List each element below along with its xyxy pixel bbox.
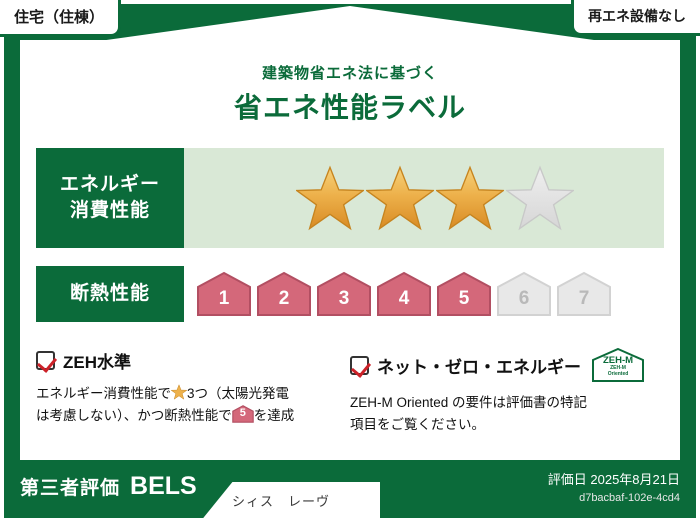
star-filled-icon-2 <box>366 165 434 231</box>
zeh-standard-title: ZEH水準 <box>63 348 131 373</box>
inline-chip-label: 5 <box>232 404 254 422</box>
energy-performance-label: エネルギー 消費性能 <box>36 148 184 248</box>
energy-label-line2: 消費性能 <box>70 198 150 224</box>
brand-overlay-text: シィス レーヴ <box>232 491 330 510</box>
insulation-chip-4: 4 <box>376 271 432 317</box>
insulation-label-text: 断熱性能 <box>70 281 150 307</box>
footer-left-group: 第三者評価 BELS <box>20 472 197 501</box>
zeh-body-text-3: は考慮しない）、かつ断熱性能で <box>36 408 232 423</box>
energy-label-line1: エネルギー <box>60 172 160 198</box>
zeh-body-text-1: エネルギー消費性能で <box>36 386 171 401</box>
insulation-chip-4-label: 4 <box>399 288 410 317</box>
net-zero-header: ネット・ゼロ・エネルギー ZEH-M ZEH-MOriented <box>350 348 648 382</box>
net-zero-energy-block: ネット・ゼロ・エネルギー ZEH-M ZEH-MOriented ZEH-M O… <box>350 348 664 448</box>
checkbox-checked-icon-zeh <box>36 351 55 370</box>
zeh-body-text-2: 3つ（太陽光発電 <box>187 386 289 401</box>
insulation-chip-2: 2 <box>256 271 312 317</box>
zeh-standard-header: ZEH水準 <box>36 348 334 373</box>
zeh-m-badge-line2: ZEH-MOriented <box>591 366 645 378</box>
page-title: 省エネ性能ラベル <box>0 86 700 126</box>
subtitle: 建築物省エネ法に基づく <box>0 62 700 83</box>
zeh-body-text-4: を達成 <box>254 408 295 423</box>
insulation-chip-7-label: 7 <box>579 288 590 317</box>
zeh-m-oriented-badge-icon: ZEH-M ZEH-MOriented <box>591 348 645 382</box>
zeh-standard-block: ZEH水準 エネルギー消費性能で3つ（太陽光発電 は考慮しない）、かつ断熱性能で… <box>36 348 350 448</box>
tag-renewable-energy: 再エネ設備なし <box>571 0 700 36</box>
energy-performance-row: エネルギー 消費性能 <box>36 148 664 248</box>
insulation-performance-row: 断熱性能 1 2 3 4 5 <box>36 266 664 322</box>
insulation-chip-5: 5 <box>436 271 492 317</box>
insulation-chip-3: 3 <box>316 271 372 317</box>
net-zero-body-line1: ZEH-M Oriented の要件は評価書の特記 <box>350 395 587 410</box>
inline-star-icon <box>171 384 187 400</box>
insulation-chip-5-label: 5 <box>459 288 470 317</box>
evaluation-date: 評価日 2025年8月21日 <box>548 469 680 488</box>
insulation-chip-6: 6 <box>496 271 552 317</box>
checkbox-checked-icon-netzero <box>350 356 369 375</box>
star-empty-icon-4 <box>506 165 574 231</box>
tag-building-type: 住宅（住棟） <box>0 0 121 37</box>
net-zero-body: ZEH-M Oriented の要件は評価書の特記 項目をご覧ください。 <box>350 392 648 437</box>
insulation-performance-label: 断熱性能 <box>36 266 184 322</box>
third-party-eval-label: 第三者評価 <box>20 473 120 500</box>
evaluation-date-value: 2025年8月21日 <box>590 472 680 487</box>
insulation-chip-7: 7 <box>556 271 612 317</box>
certificate-id: d7bacbaf-102e-4cd4 <box>548 492 680 504</box>
insulation-chip-1-label: 1 <box>219 288 230 317</box>
footer-right-group: 評価日 2025年8月21日 d7bacbaf-102e-4cd4 <box>548 469 680 504</box>
criteria-section: ZEH水準 エネルギー消費性能で3つ（太陽光発電 は考慮しない）、かつ断熱性能で… <box>36 348 664 448</box>
inline-insulation-chip-icon: 5 <box>232 405 254 423</box>
zeh-standard-body: エネルギー消費性能で3つ（太陽光発電 は考慮しない）、かつ断熱性能で5を達成 <box>36 383 334 428</box>
star-filled-icon-1 <box>296 165 364 231</box>
bels-logo-text: BELS <box>130 472 197 501</box>
star-filled-icon-3 <box>436 165 504 231</box>
insulation-chip-1: 1 <box>196 271 252 317</box>
bels-energy-label: 住宅（住棟） 再エネ設備なし 建築物省エネ法に基づく 省エネ性能ラベル エネルギ… <box>0 0 700 522</box>
net-zero-body-line2: 項目をご覧ください。 <box>350 417 485 432</box>
insulation-chip-2-label: 2 <box>279 288 290 317</box>
insulation-chip-6-label: 6 <box>519 288 530 317</box>
insulation-chip-3-label: 3 <box>339 288 350 317</box>
energy-star-rating <box>184 148 664 248</box>
evaluation-date-label: 評価日 <box>548 472 587 487</box>
net-zero-title: ネット・ゼロ・エネルギー <box>377 353 581 378</box>
insulation-level-scale: 1 2 3 4 5 6 7 <box>184 266 664 322</box>
